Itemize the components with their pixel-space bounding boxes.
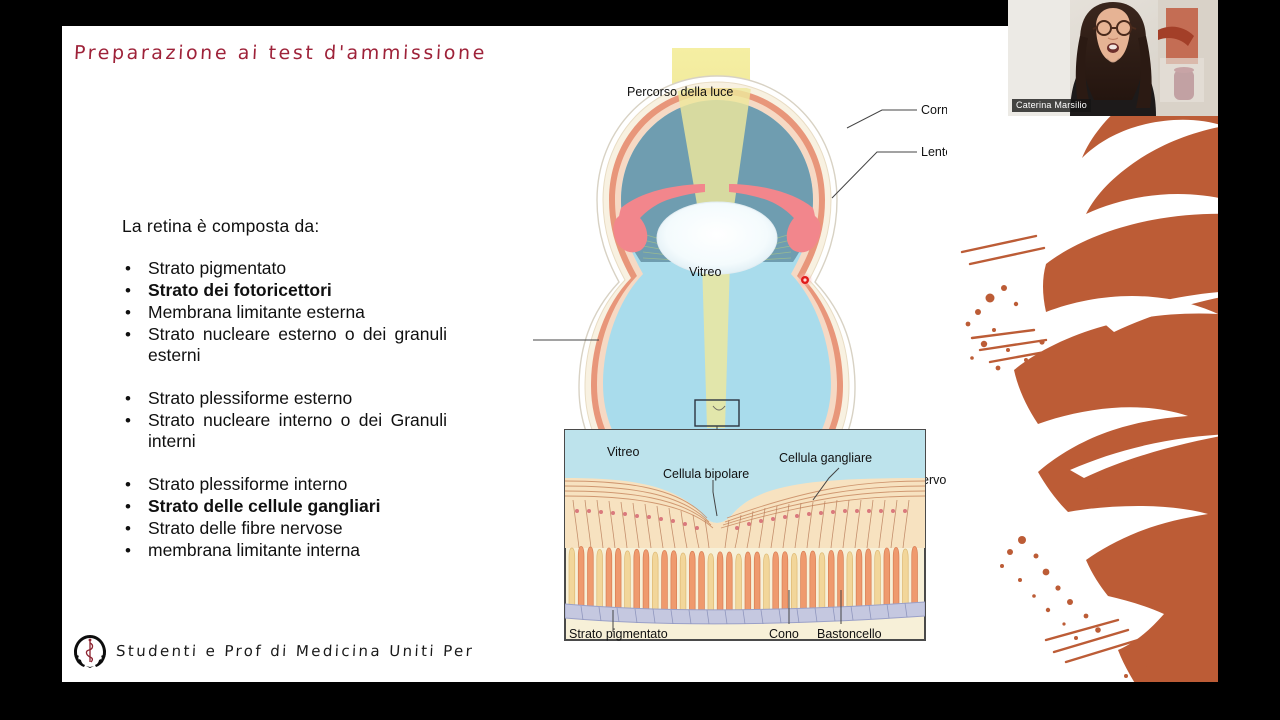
list-item: •membrana limitante interna — [122, 540, 447, 561]
inset-label-bastoncello: Bastoncello — [817, 627, 882, 641]
list-item: •Strato pigmentato — [122, 258, 447, 279]
letterbox-top — [0, 0, 1008, 26]
list-item: •Strato dei fotoricettori — [122, 280, 447, 301]
list-item: •Strato plessiforme interno — [122, 474, 447, 495]
list-item-label: Strato plessiforme interno — [148, 474, 447, 495]
lead-text: La retina è composta da: — [122, 216, 432, 237]
footer: Studenti e Prof di Medicina Uniti Per — [70, 632, 474, 670]
list-item-label: Strato delle fibre nervose — [148, 518, 447, 539]
bullet-marker-icon: • — [122, 496, 148, 517]
label-vitreo: Vitreo — [689, 265, 721, 279]
webcam-participant-tile[interactable]: Caterina Marsilio — [1008, 0, 1218, 116]
bullet-marker-icon: • — [122, 302, 148, 323]
list-item-label: Membrana limitante esterna — [148, 302, 447, 323]
letterbox-bottom — [0, 682, 1280, 720]
inset-label-vitreo: Vitreo — [607, 445, 639, 459]
list-item: •Strato plessiforme esterno — [122, 388, 447, 409]
list-item-label: Strato delle cellule gangliari — [148, 496, 447, 517]
bullet-marker-icon: • — [122, 518, 148, 539]
page-title: Preparazione ai test d'ammissione — [73, 42, 487, 64]
footer-text: Studenti e Prof di Medicina Uniti Per — [116, 642, 475, 660]
bullet-marker-icon: • — [122, 540, 148, 561]
list-item-label: Strato plessiforme esterno — [148, 388, 447, 409]
lens-shape — [657, 202, 777, 274]
list-item: •Strato nucleare esterno o dei granuli e… — [122, 324, 447, 387]
bullet-marker-icon: • — [122, 474, 148, 495]
inset-label-strato-pigmentato: Strato pigmentato — [569, 627, 668, 641]
bullet-marker-icon: • — [122, 280, 148, 301]
inset-label-cellula-gangliare: Cellula gangliare — [779, 451, 872, 465]
retina-layers-list: •Strato pigmentato•Strato dei fotoricett… — [122, 258, 447, 562]
inset-label-cono: Cono — [769, 627, 799, 641]
bullet-marker-icon: • — [122, 324, 148, 345]
laurel-wreath-caduceus-logo — [70, 632, 110, 670]
eye-anatomy-figure: Percorso della luce Cornea Lente Vitreo … — [517, 48, 947, 668]
label-lente: Lente — [921, 145, 947, 159]
list-item: •Strato delle fibre nervose — [122, 518, 447, 539]
inset-label-cellula-bipolare: Cellula bipolare — [663, 467, 749, 481]
list-item-label: Strato dei fotoricettori — [148, 280, 447, 301]
bullet-marker-icon: • — [122, 258, 148, 279]
macula-marker — [797, 272, 813, 288]
list-item-label: membrana limitante interna — [148, 540, 447, 561]
bullet-marker-icon: • — [122, 410, 148, 431]
letterbox-left — [0, 0, 62, 720]
retina-cross-section-inset: Vitreo Cellula bipolare Cellula gangliar… — [565, 430, 925, 641]
label-cornea: Cornea — [921, 103, 947, 117]
label-percorso-della-luce: Percorso della luce — [627, 85, 733, 99]
letterbox-right — [1218, 0, 1280, 720]
list-item-label: Strato nucleare interno o dei Granuli in… — [148, 410, 447, 473]
participant-name-label: Caterina Marsilio — [1012, 99, 1091, 112]
screen-root: Preparazione ai test d'ammissione La ret… — [0, 0, 1280, 720]
list-item-label: Strato pigmentato — [148, 258, 447, 279]
bullet-marker-icon: • — [122, 388, 148, 409]
list-item-label: Strato nucleare esterno o dei granuli es… — [148, 324, 447, 387]
list-item: •Membrana limitante esterna — [122, 302, 447, 323]
list-item: •Strato delle cellule gangliari — [122, 496, 447, 517]
list-item: •Strato nucleare interno o dei Granuli i… — [122, 410, 447, 473]
